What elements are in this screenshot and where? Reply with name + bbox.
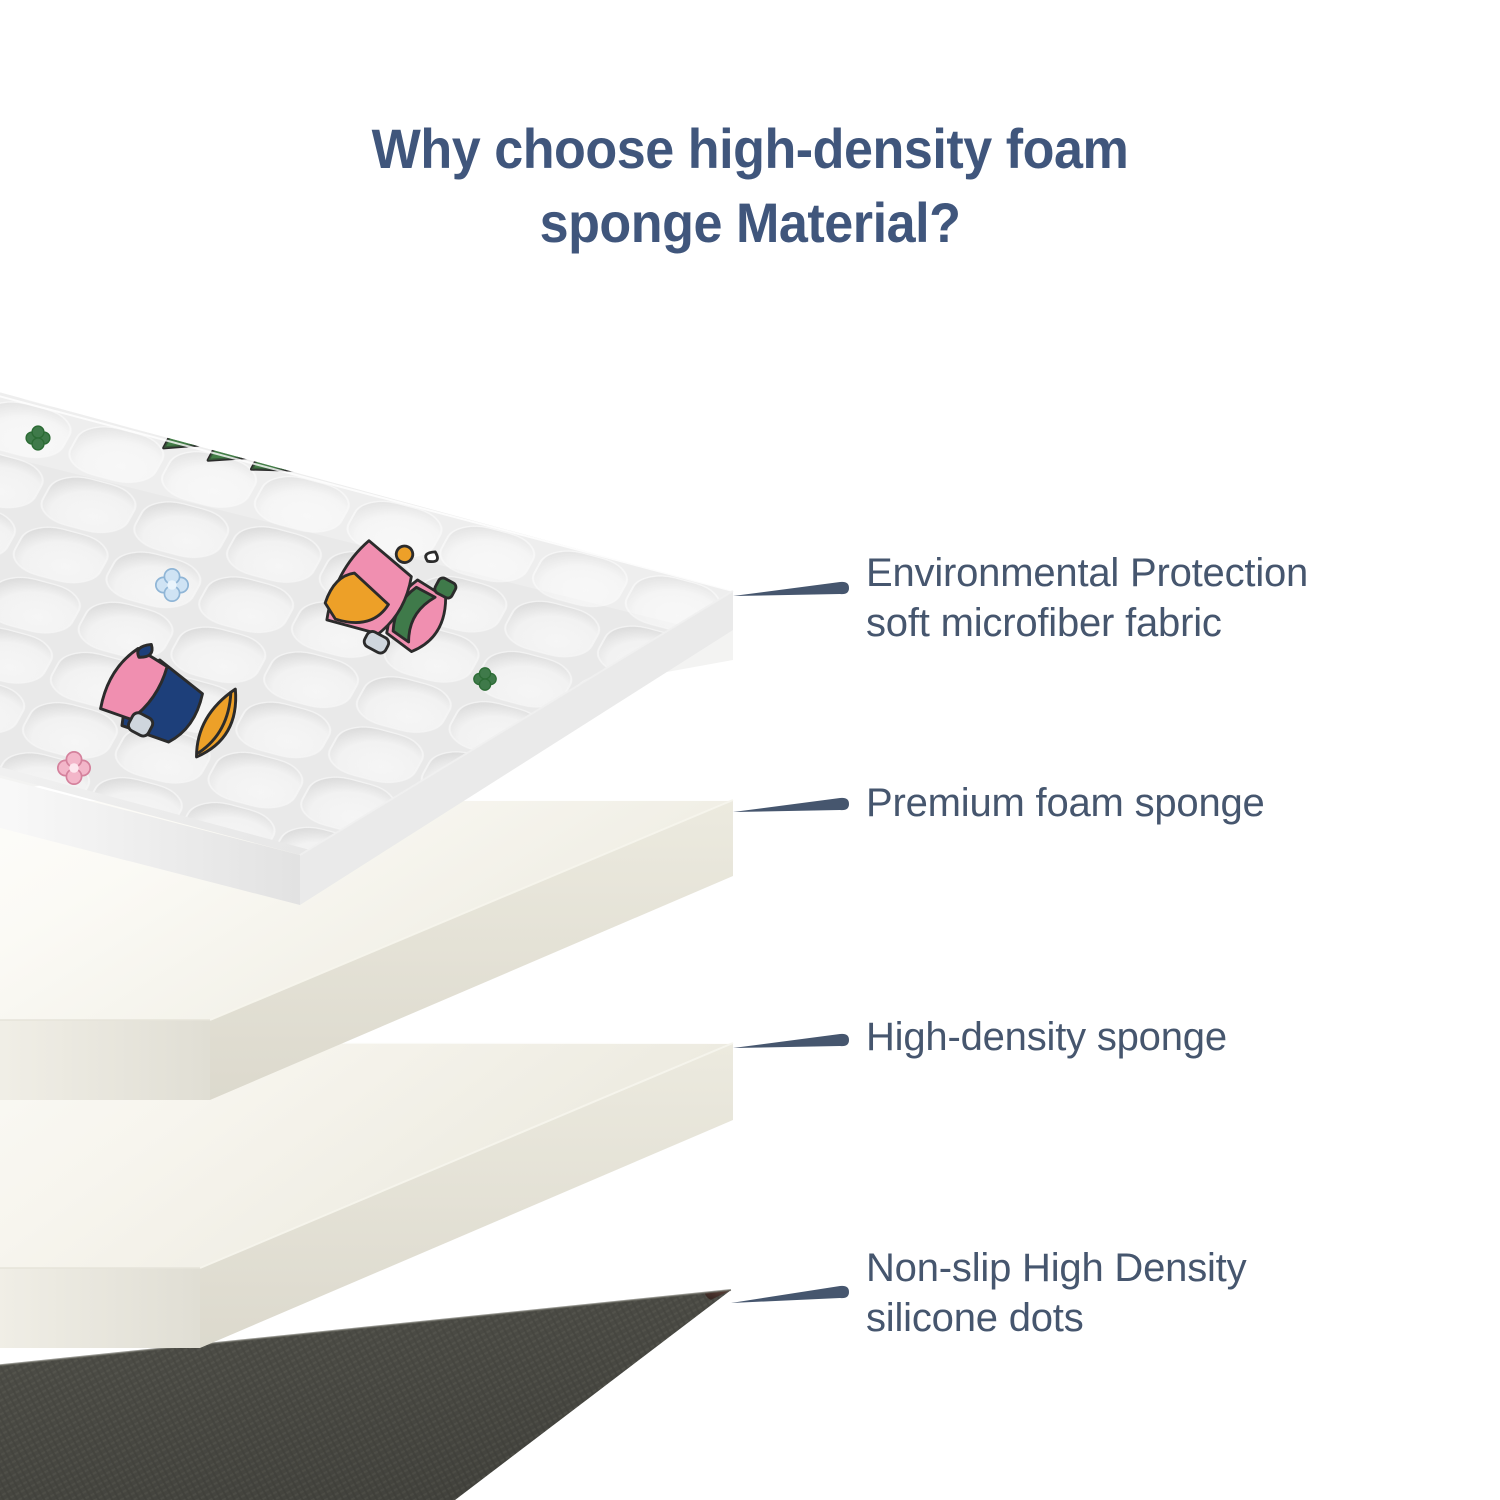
silicone-dot xyxy=(1075,1425,1148,1458)
silicone-dot xyxy=(900,1480,973,1500)
leader-lines xyxy=(731,582,849,1303)
layer-label-high-density-foam: High-density sponge xyxy=(866,1012,1227,1062)
silicone-dot xyxy=(1229,1415,1302,1448)
silicone-dot xyxy=(1008,1407,1081,1440)
layer-label-top-fabric: Environmental Protection soft microfiber… xyxy=(866,548,1308,648)
leader-line-3 xyxy=(733,1034,849,1048)
leader-line-1 xyxy=(733,582,849,596)
silicone-dot xyxy=(1208,1460,1281,1493)
silicone-dot xyxy=(632,1410,705,1443)
silicone-dot xyxy=(653,1364,726,1397)
leader-line-4 xyxy=(731,1286,849,1303)
silicone-dot xyxy=(1342,1495,1415,1500)
silicone-dot xyxy=(720,1382,793,1415)
silicone-dot xyxy=(1275,1478,1348,1500)
exploded-layer-illustration xyxy=(0,0,1500,1500)
silicone-dot xyxy=(1121,1488,1194,1500)
silicone-dot xyxy=(987,1453,1060,1486)
silicone-dot xyxy=(941,1390,1014,1423)
infographic-canvas: Why choose high-density foam sponge Mate… xyxy=(0,0,1500,1500)
silicone-dot xyxy=(741,1337,814,1370)
silicone-dot xyxy=(678,1473,751,1500)
silicone-dot xyxy=(1095,1379,1168,1412)
silicone-dot xyxy=(962,1344,1035,1377)
silicone-dot xyxy=(545,1438,618,1471)
silicone-dot xyxy=(1496,1485,1500,1500)
silicone-dot xyxy=(699,1428,772,1461)
layer-label-silicone-dots: Non-slip High Density silicone dots xyxy=(866,1243,1246,1343)
silicone-dot xyxy=(1430,1468,1500,1500)
silicone-dot xyxy=(787,1400,860,1433)
silicone-dot xyxy=(1162,1397,1235,1430)
silicone-dot xyxy=(874,1372,947,1405)
silicone-dot xyxy=(1363,1450,1436,1483)
silicone-dot xyxy=(524,1483,597,1500)
silicone-dot xyxy=(833,1463,906,1496)
silicone-dot xyxy=(1054,1470,1127,1500)
silicone-dot xyxy=(1296,1432,1369,1465)
silicone-dot xyxy=(807,1354,880,1387)
silicone-dot xyxy=(612,1455,685,1488)
silicone-dot xyxy=(854,1417,927,1450)
layer-top-quilted-fabric xyxy=(0,0,913,920)
silicone-dot xyxy=(766,1445,839,1478)
silicone-dot xyxy=(1142,1442,1215,1475)
silicone-dot xyxy=(920,1435,993,1468)
silicone-dot xyxy=(745,1491,818,1500)
leader-line-2 xyxy=(733,798,849,812)
silicone-dot xyxy=(1029,1362,1102,1395)
layer-label-premium-foam: Premium foam sponge xyxy=(866,778,1265,828)
